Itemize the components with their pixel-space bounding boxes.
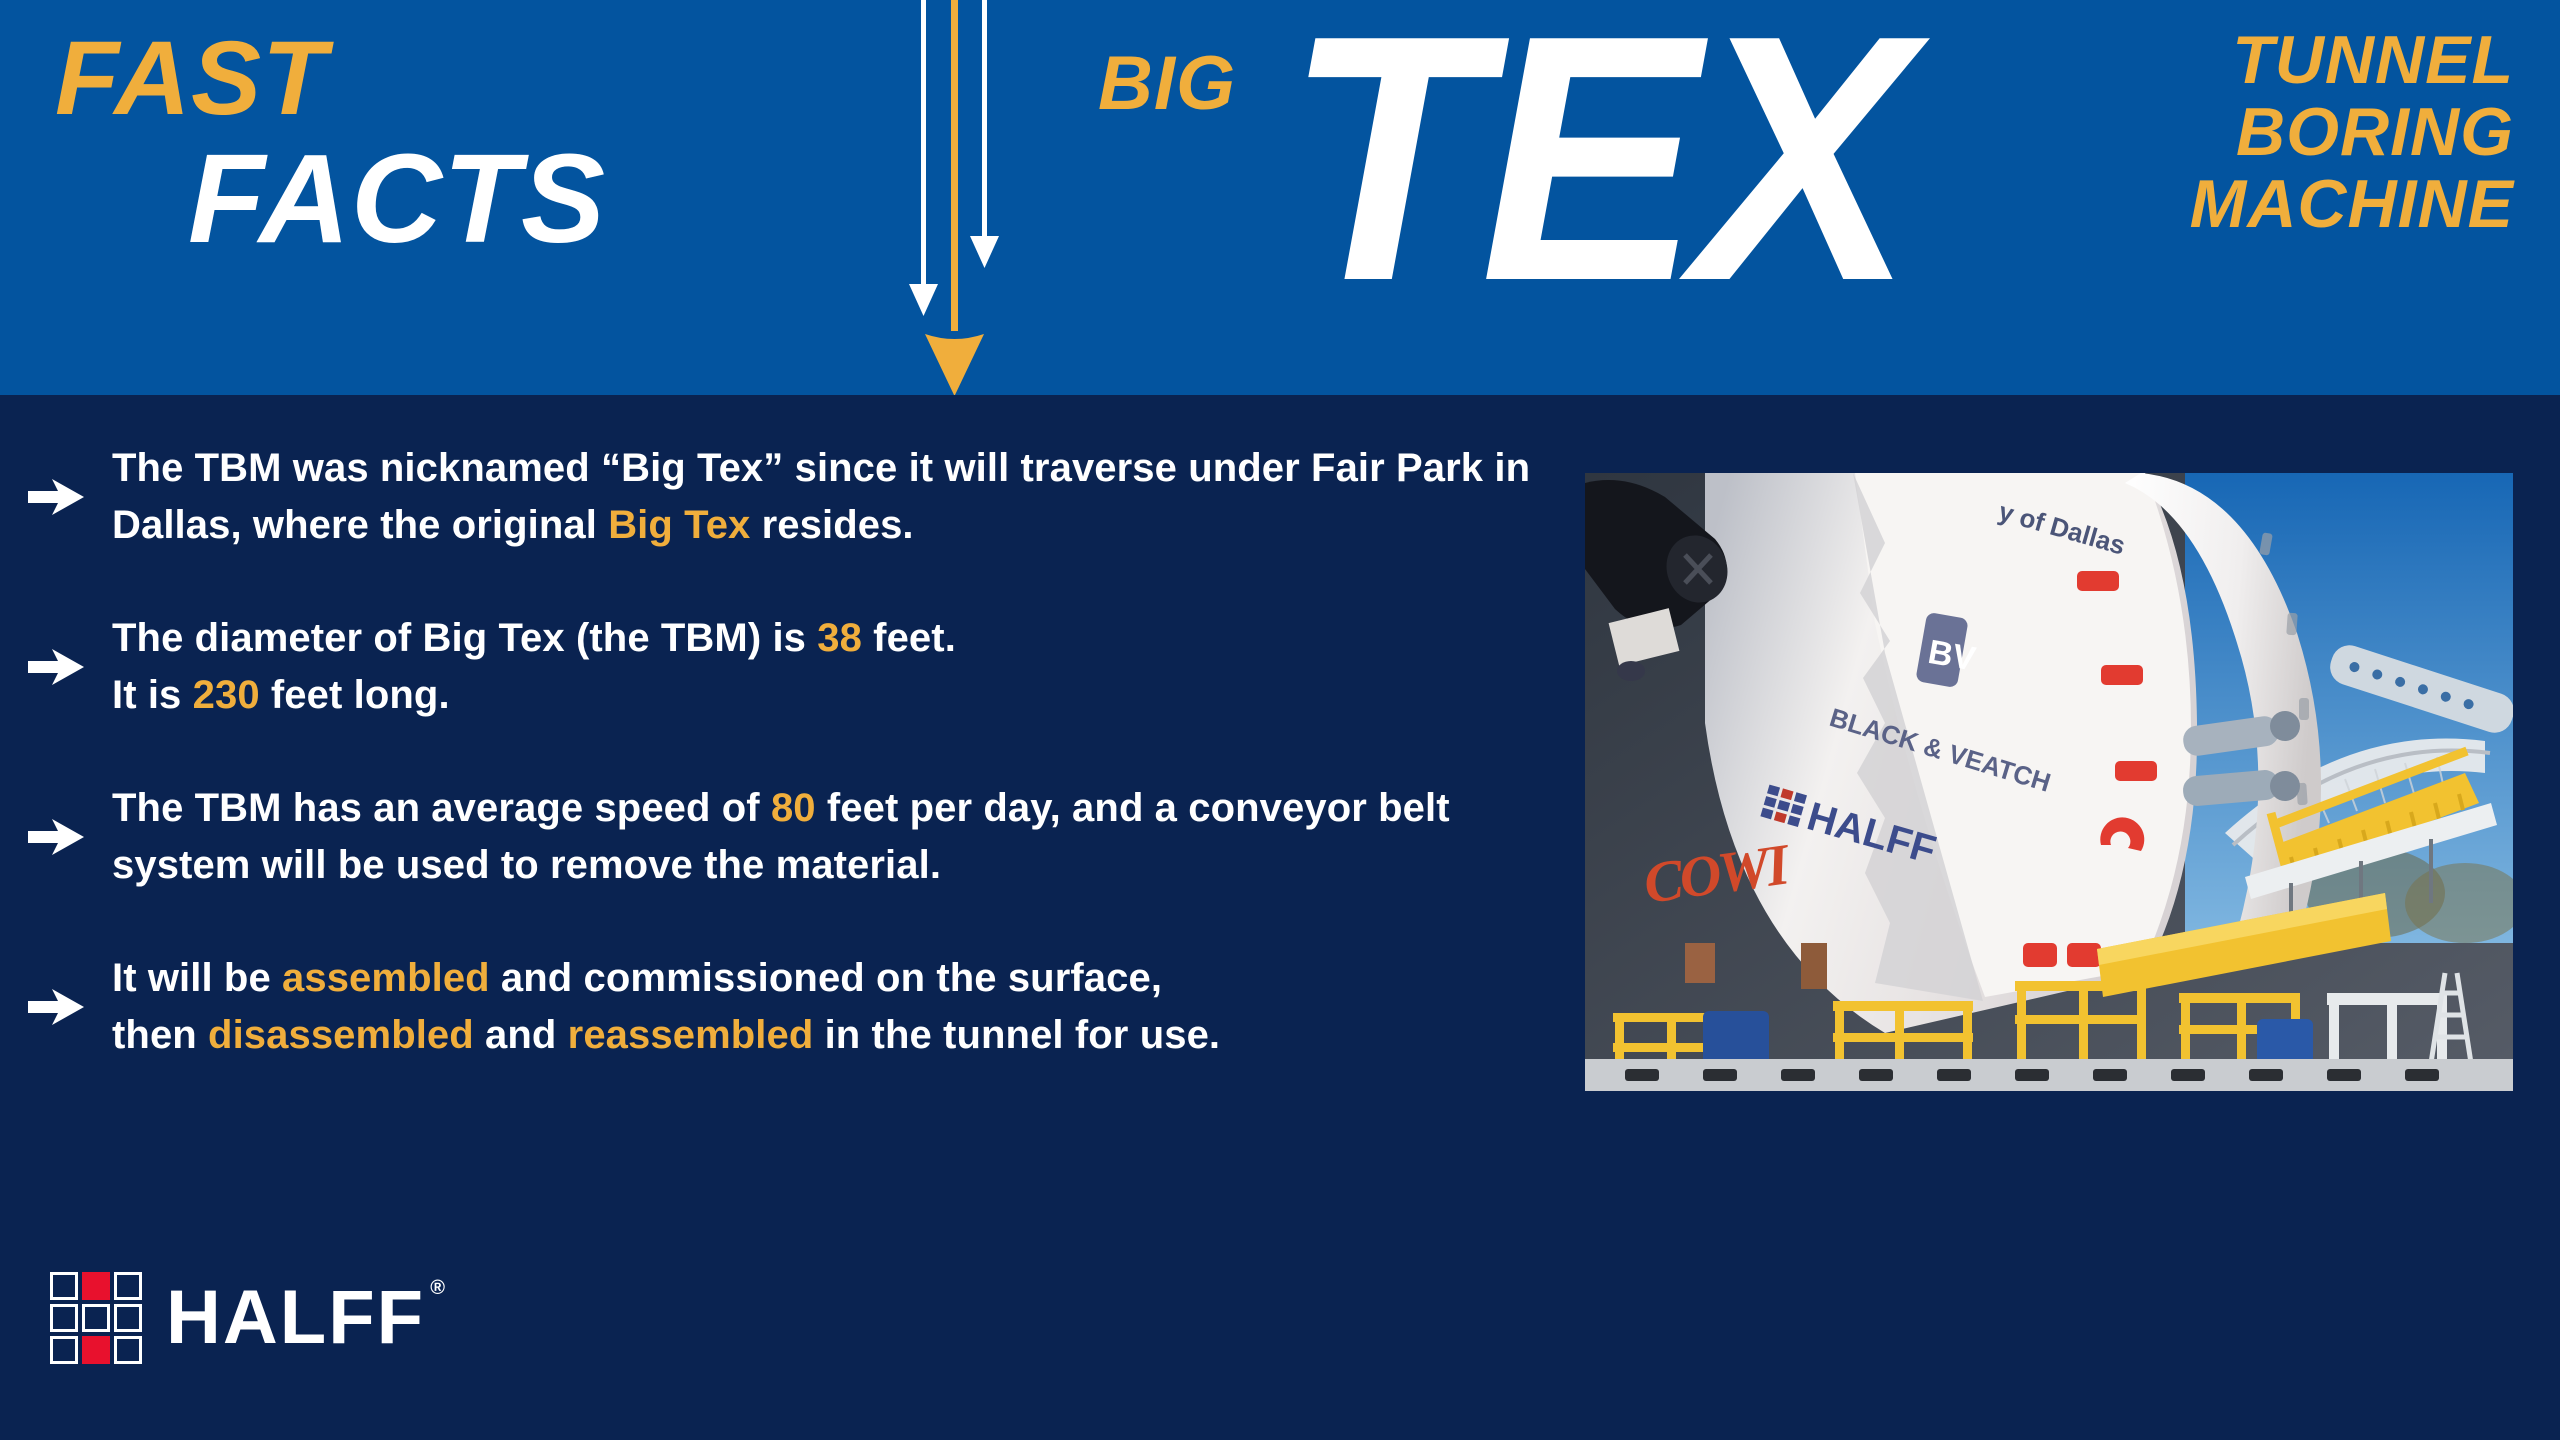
arrow-right-icon <box>0 649 112 685</box>
header-band: FAST FACTS BIG TEX TUNNEL BORING MACHINE <box>0 0 2560 395</box>
fact-text-dimensions: The diameter of Big Tex (the TBM) is 38 … <box>112 610 1560 724</box>
orange-arrow-center <box>925 0 984 395</box>
halff-logo: HALFF ® <box>50 1272 425 1364</box>
tbm-cutterhead-photo: y of Dallas BV BLACK & VEATCH <box>1585 473 2513 1091</box>
fact-item: It will be assembled and commissioned on… <box>0 950 1560 1064</box>
arrow-right-icon <box>0 479 112 515</box>
tbm-line-boring: BORING <box>1954 96 2514 168</box>
facts-word: FACTS <box>188 136 606 262</box>
logo-cell <box>114 1304 142 1332</box>
white-arrow-left <box>909 0 938 316</box>
tex-word: TEX <box>1285 0 1908 334</box>
halff-wordmark: HALFF ® <box>166 1280 425 1356</box>
highlight-assembled: assembled <box>282 956 490 1000</box>
logo-cell <box>114 1272 142 1300</box>
halff-logo-grid <box>50 1272 142 1364</box>
highlight-speed: 80 <box>771 786 816 830</box>
arrow-right-icon <box>0 819 112 855</box>
arrow-right-icon <box>0 989 112 1025</box>
white-arrow-right <box>970 0 999 268</box>
fact-list: The TBM was nicknamed “Big Tex” since it… <box>0 440 1560 1064</box>
highlight-length: 230 <box>193 673 260 717</box>
fast-word: FAST <box>55 26 327 131</box>
tunnel-boring-machine-label: TUNNEL BORING MACHINE <box>1954 24 2514 240</box>
fact-text-assembly: It will be assembled and commissioned on… <box>112 950 1560 1064</box>
highlight-diameter: 38 <box>817 616 862 660</box>
fact-item: The TBM has an average speed of 80 feet … <box>0 780 1560 894</box>
logo-cell <box>50 1336 78 1364</box>
logo-cell <box>50 1272 78 1300</box>
fact-item: The TBM was nicknamed “Big Tex” since it… <box>0 440 1560 554</box>
highlight-big-tex: Big Tex <box>608 503 750 547</box>
logo-cell <box>50 1304 78 1332</box>
downward-arrows-group <box>900 0 1080 395</box>
tbm-line-machine: MACHINE <box>1954 168 2514 240</box>
tbm-line-tunnel: TUNNEL <box>1954 24 2514 96</box>
halff-wordmark-text: HALFF <box>166 1275 425 1360</box>
registered-trademark-icon: ® <box>430 1278 447 1298</box>
logo-cell-accent <box>82 1336 110 1364</box>
infographic-slide: FAST FACTS BIG TEX TUNNEL BORING MACHINE <box>0 0 2560 1440</box>
highlight-disassembled: disassembled <box>208 1013 474 1057</box>
logo-cell <box>114 1336 142 1364</box>
big-word: BIG <box>1098 46 1236 122</box>
highlight-reassembled: reassembled <box>568 1013 814 1057</box>
logo-cell <box>82 1304 110 1332</box>
fact-text-nickname: The TBM was nicknamed “Big Tex” since it… <box>112 440 1560 554</box>
logo-cell-accent <box>82 1272 110 1300</box>
fact-item: The diameter of Big Tex (the TBM) is 38 … <box>0 610 1560 724</box>
fact-text-speed: The TBM has an average speed of 80 feet … <box>112 780 1560 894</box>
svg-text:BV: BV <box>1925 633 1978 679</box>
